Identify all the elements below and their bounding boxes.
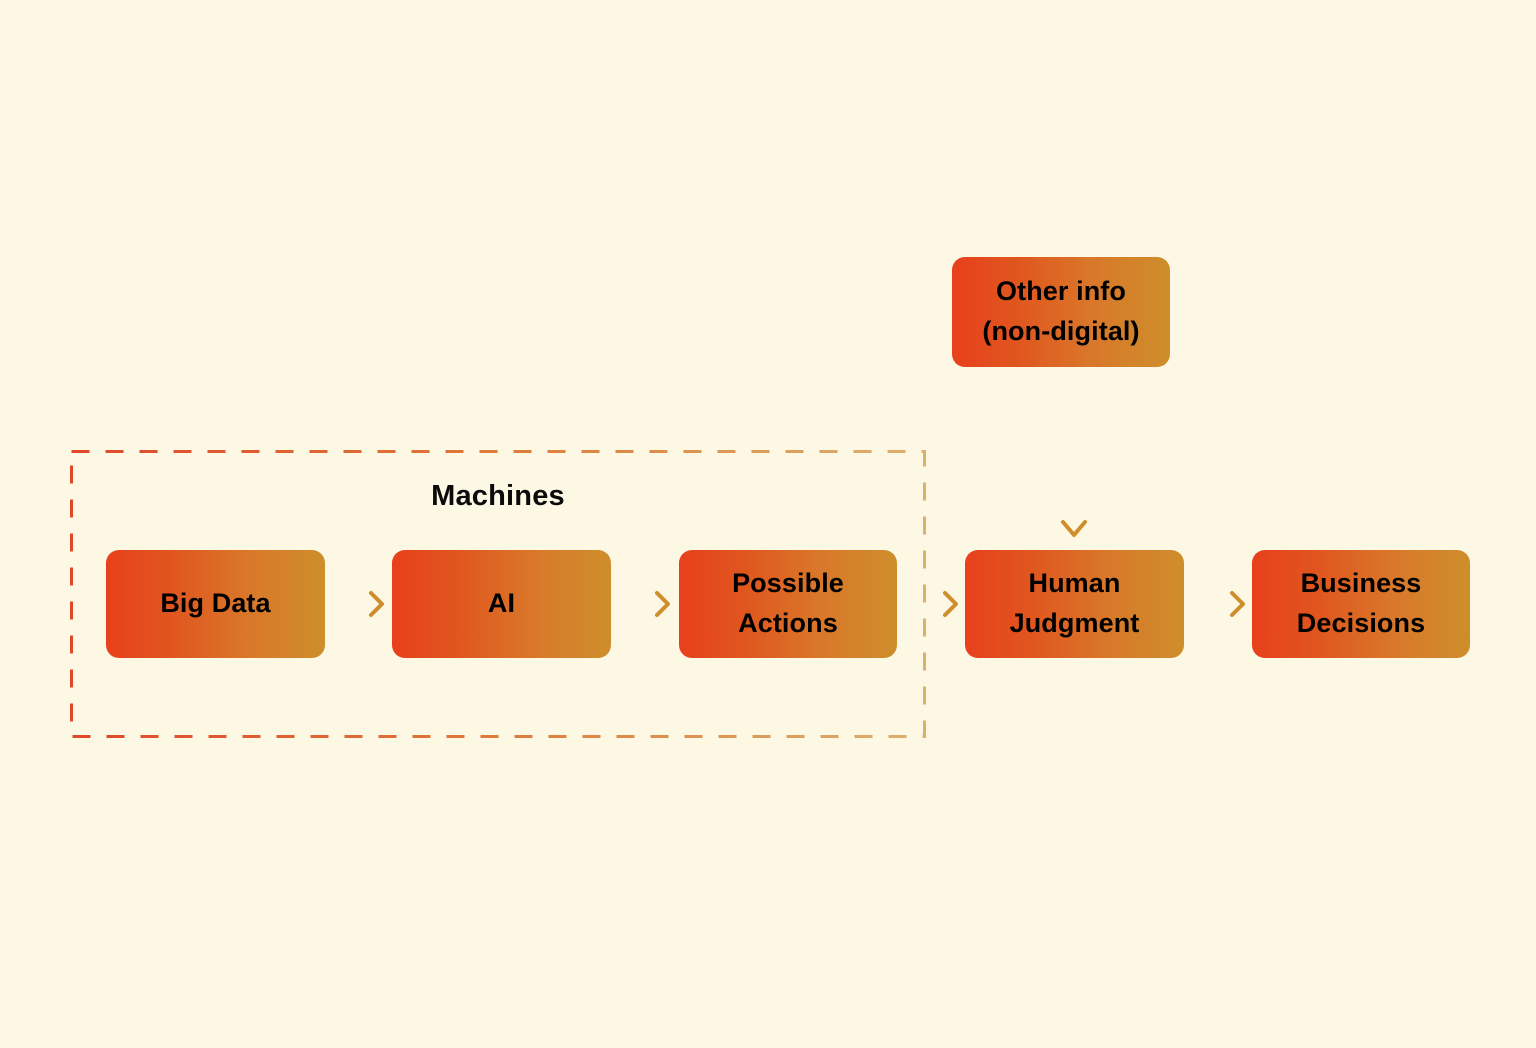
node-human-judgment[interactable]: Human Judgment [965, 550, 1184, 658]
connector-human-judgment-to-business-decisions-arrow-icon [1192, 585, 1250, 623]
node-ai-label: AI [478, 584, 525, 624]
node-possible-actions-label: Possible Actions [722, 564, 854, 644]
diagram-canvas: Machines Other info (non-digital) Big Da… [0, 0, 1536, 1048]
node-big-data-label: Big Data [150, 584, 280, 624]
connector-possible-actions-to-human-judgment-arrow-icon [905, 585, 963, 623]
node-other-info[interactable]: Other info (non-digital) [952, 257, 1170, 367]
node-business-decisions-label: Business Decisions [1287, 564, 1435, 644]
node-big-data[interactable]: Big Data [106, 550, 325, 658]
node-business-decisions[interactable]: Business Decisions [1252, 550, 1470, 658]
machines-group-label: Machines [70, 480, 926, 513]
node-human-judgment-label: Human Judgment [1000, 564, 1150, 644]
node-ai[interactable]: AI [392, 550, 611, 658]
connector-bigdata-to-ai-arrow-icon [331, 585, 389, 623]
node-possible-actions[interactable]: Possible Actions [679, 550, 897, 658]
connector-other-info-to-human-judgment-arrow-icon [1055, 372, 1093, 544]
node-other-info-label: Other info (non-digital) [972, 272, 1149, 352]
connector-ai-to-possible-actions-arrow-icon [617, 585, 675, 623]
